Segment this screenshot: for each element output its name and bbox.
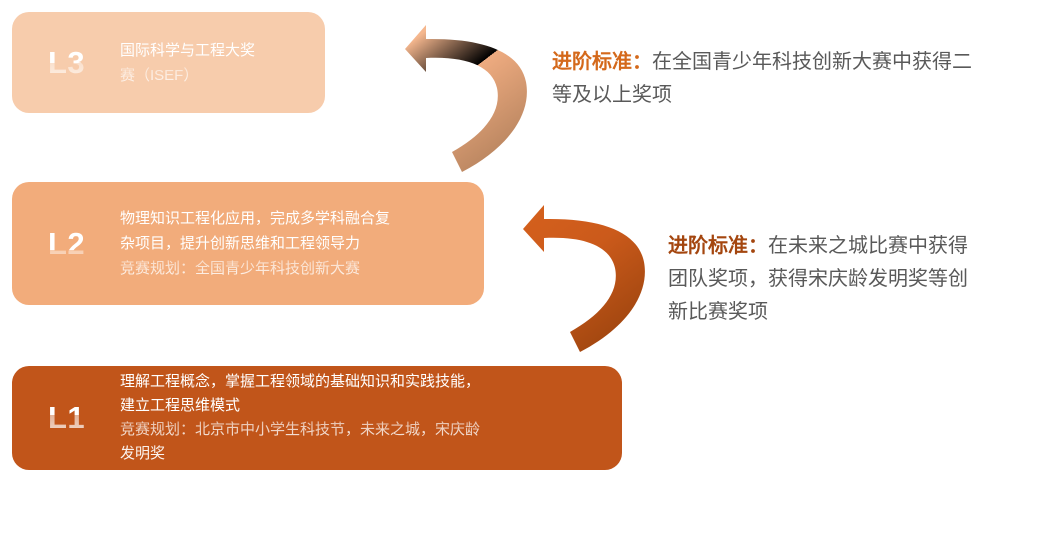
- level-card-l1[interactable]: L1 理解工程概念，掌握工程领域的基础知识和实践技能， 建立工程思维模式 竞赛规…: [12, 366, 622, 470]
- level-card-l2[interactable]: L2 物理知识工程化应用，完成多学科融合复 杂项目，提升创新思维和工程领导力 竞…: [12, 182, 484, 305]
- diagram-canvas: L3 国际科学与工程大奖 赛（ISEF） L2 物理知识工程化应用，完成多学科融…: [0, 0, 1060, 533]
- curved-arrow-icon-l2-to-l3: [396, 22, 546, 192]
- level-tag-l2: L2: [48, 226, 120, 262]
- level-card-l1-box: L1 理解工程概念，掌握工程领域的基础知识和实践技能， 建立工程思维模式 竞赛规…: [12, 366, 622, 470]
- level-tag-l1: L1: [48, 400, 120, 436]
- level-description-l2: 物理知识工程化应用，完成多学科融合复 杂项目，提升创新思维和工程领导力 竞赛规划…: [120, 206, 484, 281]
- criterion-label-upper: 进阶标准：: [552, 51, 652, 73]
- level-card-l3[interactable]: L3 国际科学与工程大奖 赛（ISEF）: [12, 12, 325, 113]
- criterion-label-lower: 进阶标准：: [668, 235, 768, 257]
- criterion-text-lower: 进阶标准：在未来之城比赛中获得团队奖项，获得宋庆龄发明奖等创新比赛奖项: [668, 230, 968, 329]
- level-description-l3: 国际科学与工程大奖 赛（ISEF）: [120, 38, 325, 88]
- level-card-l3-box: L3 国际科学与工程大奖 赛（ISEF）: [12, 12, 325, 113]
- criterion-text-upper: 进阶标准：在全国青少年科技创新大赛中获得二等及以上奖项: [552, 46, 982, 112]
- level-description-l1: 理解工程概念，掌握工程领域的基础知识和实践技能， 建立工程思维模式 竞赛规划：北…: [120, 370, 622, 466]
- curved-arrow-icon-l1-to-l2: [514, 202, 664, 372]
- level-tag-l3: L3: [48, 45, 120, 81]
- level-card-l2-box: L2 物理知识工程化应用，完成多学科融合复 杂项目，提升创新思维和工程领导力 竞…: [12, 182, 484, 305]
